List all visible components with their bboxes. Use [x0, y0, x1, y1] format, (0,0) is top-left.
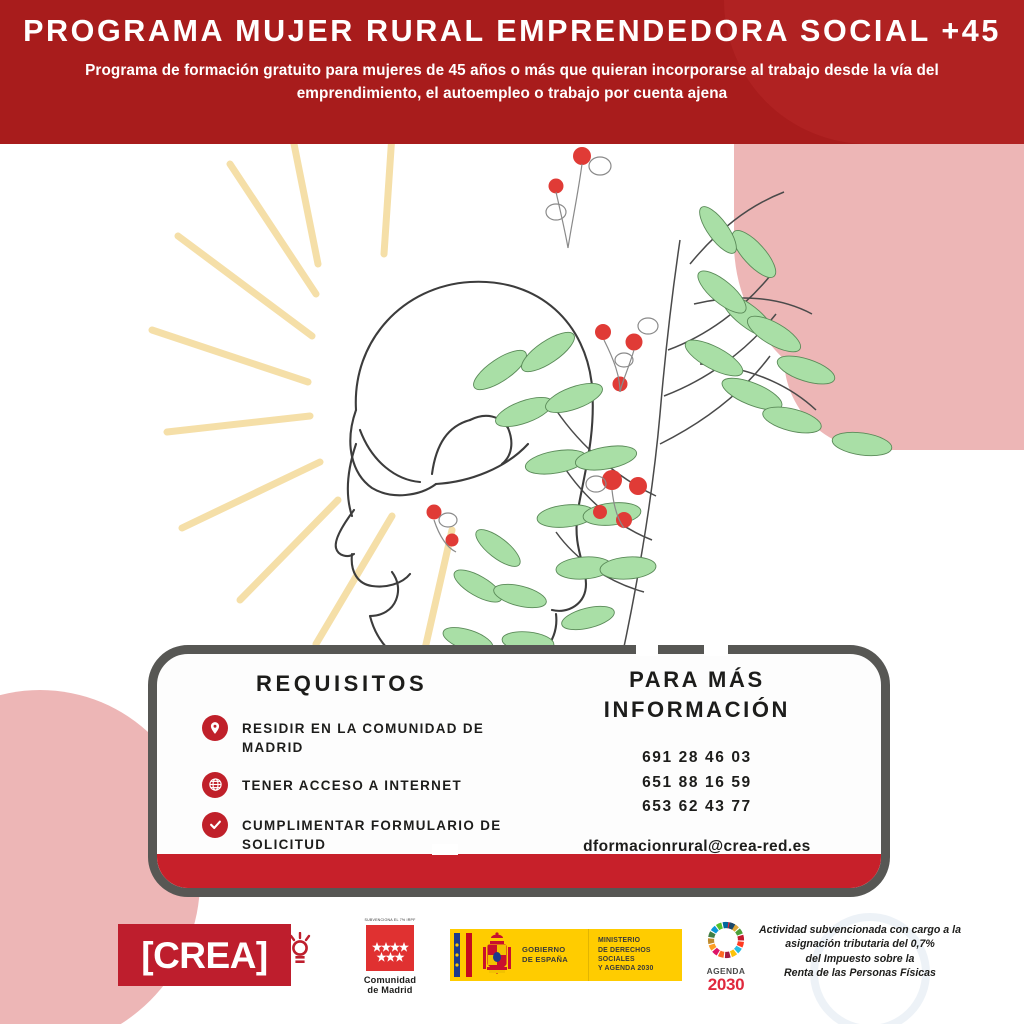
- contacto-heading-line1: PARA MÁS: [629, 667, 765, 692]
- lightbulb-icon: [287, 932, 313, 971]
- crea-logo[interactable]: [CREA]: [118, 924, 291, 986]
- map-pin-icon: [202, 715, 228, 741]
- cm-wordmark: Comunidad de Madrid: [336, 975, 444, 997]
- check-circle-icon: [202, 812, 228, 838]
- requisito-label: RESIDIR EN LA COMUNIDAD DE MADRID: [242, 715, 534, 758]
- requisito-label: TENER ACCESO A INTERNET: [242, 772, 462, 795]
- spain-flag-icon: [450, 929, 476, 981]
- ministerio-line1: MINISTERIO: [598, 937, 640, 944]
- cm-subvenciona-text: SUBVENCIONA EL 7% IRPF: [336, 919, 444, 923]
- subvencion-text: Actividad subvencionada con cargo a la a…: [738, 923, 982, 980]
- spain-coat-of-arms-icon: [476, 929, 518, 981]
- email-address[interactable]: dformacionrural@crea-red.es: [534, 838, 860, 856]
- poster-root: PROGRAMA MUJER RURAL EMPRENDEDORA SOCIAL…: [0, 0, 1024, 1024]
- ministerio-line2: DE DERECHOS SOCIALES: [598, 947, 651, 963]
- gobierno-wordmark: GOBIERNO DE ESPAÑA: [518, 945, 588, 965]
- gobierno-line2: DE ESPAÑA: [522, 955, 568, 964]
- ministerio-wordmark: MINISTERIO DE DERECHOS SOCIALES Y AGENDA…: [589, 936, 682, 973]
- list-item: RESIDIR EN LA COMUNIDAD DE MADRID: [202, 715, 534, 758]
- woman-with-branches-illustration: [0, 144, 1024, 684]
- requisitos-list: RESIDIR EN LA COMUNIDAD DE MADRID TENER …: [202, 715, 534, 855]
- sunburst-rays: [152, 144, 452, 662]
- contacto-heading-line2: INFORMACIÓN: [604, 697, 790, 722]
- subvencion-line4: Renta de las Personas Físicas: [784, 967, 936, 979]
- subvencion-line1: Actividad subvencionada con cargo a la: [759, 924, 961, 936]
- woman-profile-line-art: [236, 282, 736, 684]
- seven-stars-icon: [366, 925, 414, 971]
- crea-wordmark: [CREA]: [141, 937, 267, 974]
- cm-line2: de Madrid: [367, 985, 412, 995]
- subvencion-line3: del Impuesto sobre la: [806, 953, 915, 965]
- requisitos-heading: REQUISITOS: [256, 671, 534, 697]
- requisitos-column: REQUISITOS RESIDIR EN LA COMUNIDAD DE MA…: [148, 645, 534, 897]
- requisito-label: CUMPLIMENTAR FORMULARIO DE SOLICITUD: [242, 812, 534, 855]
- cm-line1: Comunidad: [364, 975, 416, 985]
- gobierno-espana-logo: GOBIERNO DE ESPAÑA MINISTERIO DE DERECHO…: [450, 929, 682, 981]
- info-card: REQUISITOS RESIDIR EN LA COMUNIDAD DE MA…: [148, 645, 890, 897]
- comunidad-madrid-logo: SUBVENCIONA EL 7% IRPF Comunidad: [336, 919, 444, 996]
- contacto-column: PARA MÁS INFORMACIÓN 691 28 46 03 651 88…: [534, 645, 890, 897]
- contacto-heading: PARA MÁS INFORMACIÓN: [534, 665, 860, 724]
- footer-logos: [CREA] SUBVENCIONA EL 7% IRPF: [0, 905, 1024, 1024]
- phone-number[interactable]: 653 62 43 77: [534, 795, 860, 819]
- page-title: PROGRAMA MUJER RURAL EMPRENDEDORA SOCIAL…: [23, 14, 1001, 49]
- page-subtitle: Programa de formación gratuito para muje…: [62, 60, 962, 106]
- list-item: TENER ACCESO A INTERNET: [202, 772, 534, 798]
- ministerio-line3: Y AGENDA 2030: [598, 965, 654, 972]
- illustration-stage: [0, 144, 1024, 684]
- phone-number[interactable]: 691 28 46 03: [534, 746, 860, 770]
- poster-header: PROGRAMA MUJER RURAL EMPRENDEDORA SOCIAL…: [0, 0, 1024, 144]
- globe-icon: [202, 772, 228, 798]
- gobierno-line1: GOBIERNO: [522, 945, 565, 954]
- phone-number[interactable]: 651 88 16 59: [534, 771, 860, 795]
- subvencion-line2: asignación tributaria del 0,7%: [785, 938, 935, 950]
- phone-list: 691 28 46 03 651 88 16 59 653 62 43 77: [534, 746, 860, 819]
- olive-leaves: [440, 201, 893, 673]
- list-item: CUMPLIMENTAR FORMULARIO DE SOLICITUD: [202, 812, 534, 855]
